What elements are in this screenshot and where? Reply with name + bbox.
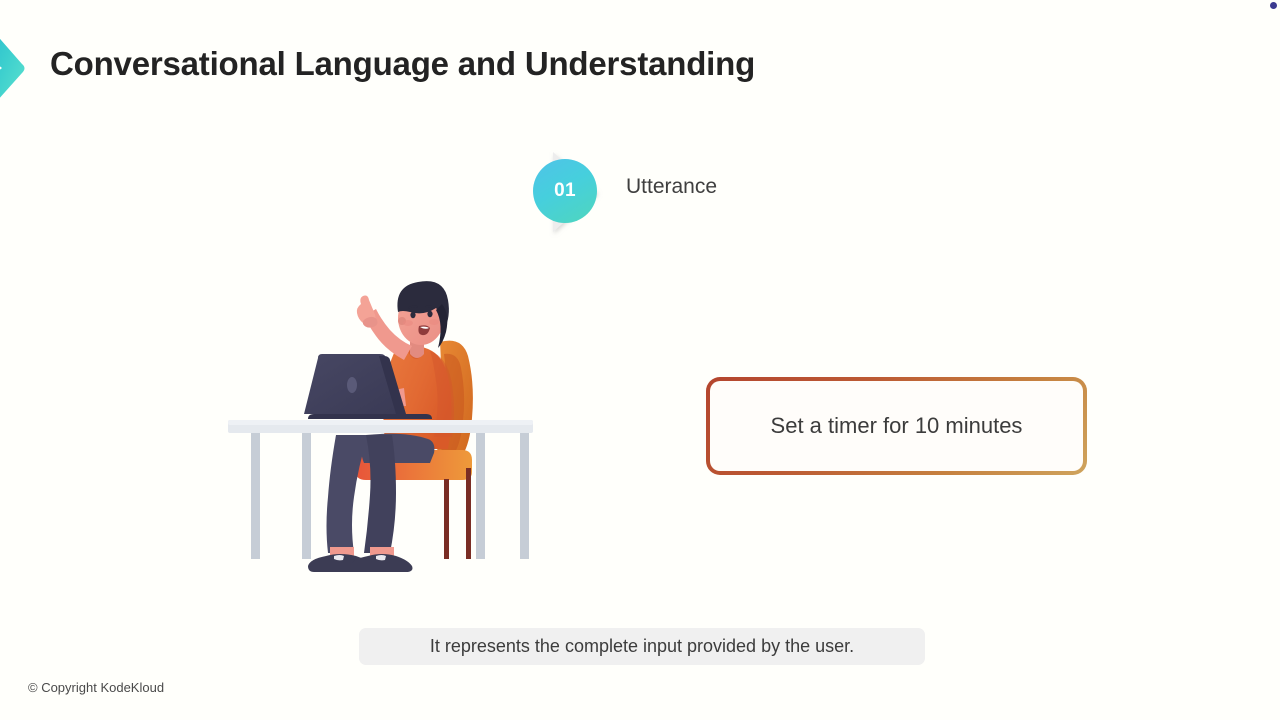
corner-accent-dot (1270, 2, 1277, 9)
slide-canvas: Conversational Language and Understandin… (0, 0, 1280, 720)
step-number-label: 01 (554, 180, 576, 202)
definition-caption-text: It represents the complete input provide… (430, 636, 854, 657)
page-title: Conversational Language and Understandin… (50, 45, 755, 83)
utterance-example-box: Set a timer for 10 minutes (706, 377, 1087, 475)
man-pointing-at-desk-illustration (218, 268, 548, 573)
step-title-label: Utterance (626, 175, 717, 199)
header-chevron-icon (0, 14, 44, 122)
footer-copyright: © Copyright KodeKloud (28, 680, 164, 695)
step-number-circle: 01 (533, 159, 597, 223)
definition-caption-box: It represents the complete input provide… (359, 628, 925, 665)
step-badge: 01 Utterance (533, 146, 833, 238)
utterance-example-text: Set a timer for 10 minutes (771, 413, 1023, 439)
